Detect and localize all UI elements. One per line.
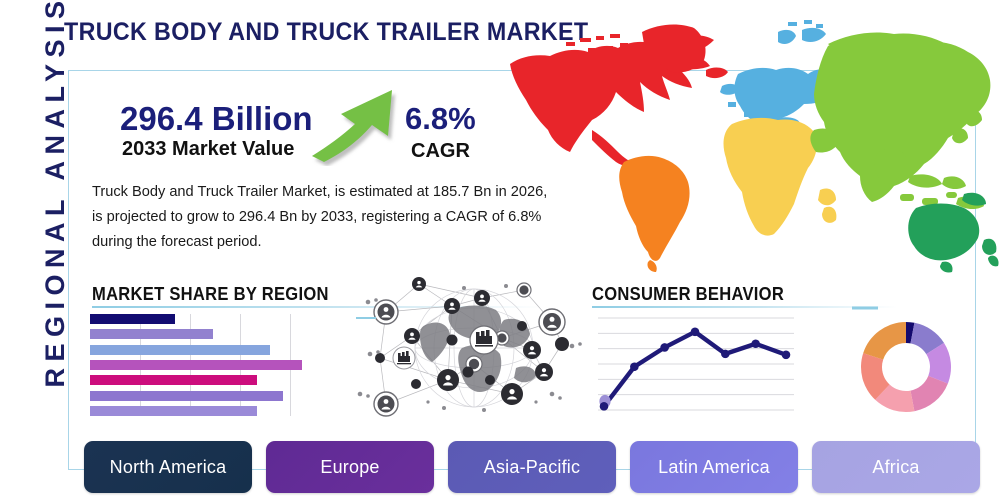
bar-chart-bar [90, 360, 302, 370]
cagr-caption: CAGR [411, 140, 470, 163]
growth-arrow-icon [308, 84, 414, 166]
world-map-icon [492, 12, 1000, 280]
bar-chart-row [90, 406, 320, 416]
bar-chart-bar [90, 329, 213, 339]
bar-chart-row [90, 375, 320, 385]
section-heading-market-share: MARKET SHARE BY REGION [92, 284, 329, 305]
global-network-globe-icon [356, 276, 590, 422]
line-chart-marker [751, 339, 760, 348]
region-button-north-america[interactable]: North America [84, 441, 252, 493]
region-button-africa[interactable]: Africa [812, 441, 980, 493]
section-heading-consumer-behavior: CONSUMER BEHAVIOR [592, 284, 784, 305]
bar-chart-bar [90, 314, 175, 324]
bar-chart-bar [90, 345, 270, 355]
bar-chart-row [90, 345, 320, 355]
region-button-label: Africa [872, 457, 919, 478]
region-button-row: North AmericaEuropeAsia-PacificLatin Ame… [84, 441, 980, 493]
region-button-label: Asia-Pacific [484, 457, 580, 478]
market-share-bar-chart [90, 314, 320, 416]
region-button-latin-america[interactable]: Latin America [630, 441, 798, 493]
bar-chart-bar [90, 375, 257, 385]
bar-chart-bars [90, 314, 320, 416]
bar-chart-row [90, 391, 320, 401]
bar-chart-bar [90, 391, 283, 401]
market-value-figure: 296.4 Billion [120, 100, 313, 138]
region-button-europe[interactable]: Europe [266, 441, 434, 493]
bar-chart-row [90, 329, 320, 339]
region-button-label: North America [110, 457, 227, 478]
donut-segment [863, 322, 906, 360]
line-chart-marker [630, 362, 639, 371]
cagr-figure: 6.8% [405, 101, 476, 137]
line-chart-marker [660, 343, 669, 352]
market-value-caption: 2033 Market Value [122, 138, 294, 161]
regional-split-donut-chart [852, 306, 960, 422]
bar-chart-row [90, 360, 320, 370]
consumer-behavior-line-chart [598, 312, 794, 416]
bar-chart-row [90, 314, 320, 324]
line-chart-marker [691, 328, 700, 337]
market-description: Truck Body and Truck Trailer Market, is … [92, 180, 560, 255]
bar-chart-bar [90, 406, 257, 416]
line-chart-marker [721, 350, 730, 359]
infographic-root: REGIONAL ANALYSIS TRUCK BODY AND TRUCK T… [0, 0, 1000, 500]
region-button-asia-pacific[interactable]: Asia-Pacific [448, 441, 616, 493]
region-button-label: Europe [320, 457, 379, 478]
line-chart-marker [782, 351, 791, 360]
line-chart-marker [600, 402, 609, 411]
region-button-label: Latin America [658, 457, 770, 478]
